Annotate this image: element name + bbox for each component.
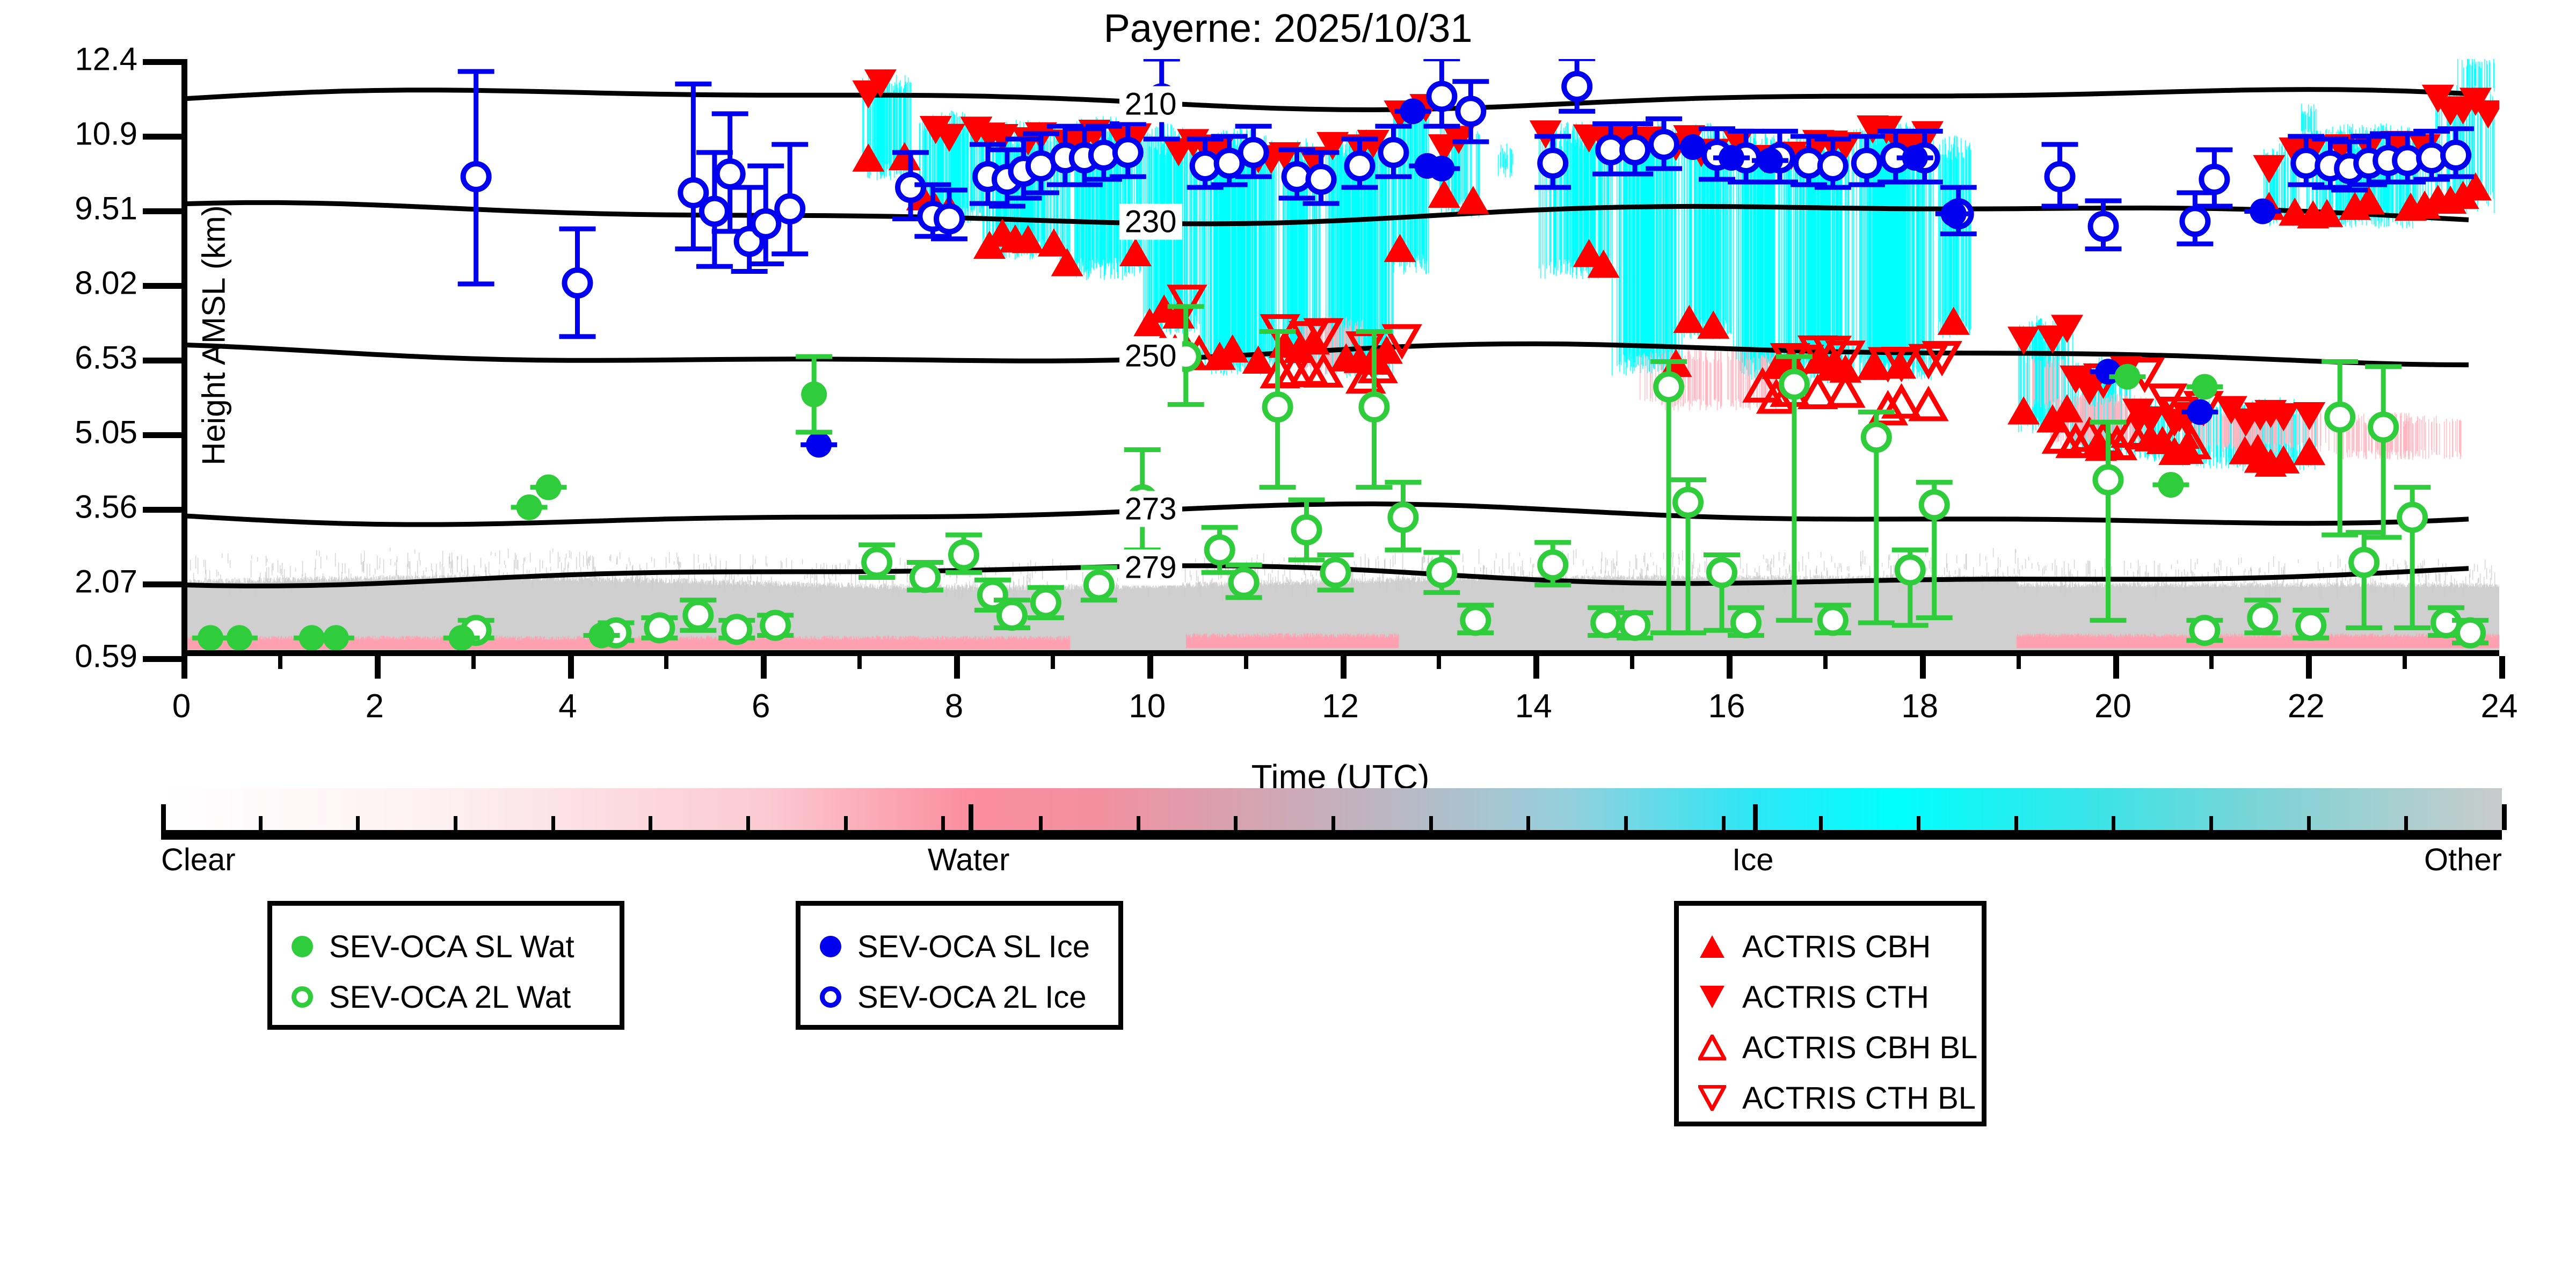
- legend-entry: SEV-OCA SL Wat: [292, 930, 574, 963]
- y-tick-label: 0.59: [75, 638, 137, 675]
- colorbar-tick: [649, 816, 652, 830]
- y-tick: [143, 656, 181, 662]
- x-tick: [2499, 656, 2505, 679]
- y-tick: [143, 432, 181, 438]
- colorbar-tick-major: [1753, 804, 1758, 830]
- colorbar-tick: [2209, 816, 2213, 830]
- colorbar: ClearWaterIceOther: [161, 788, 2502, 830]
- legend-label: SEV-OCA 2L Wat: [329, 979, 571, 1015]
- colorbar-tick: [1331, 816, 1335, 830]
- filled-circle-icon: [820, 936, 841, 957]
- x-tick-minor: [1437, 656, 1441, 669]
- colorbar-tick: [2404, 816, 2408, 830]
- legend-entry: ACTRIS CTH BL: [1698, 1082, 1976, 1114]
- y-tick: [143, 208, 181, 214]
- colorbar-tick: [1429, 816, 1433, 830]
- legend-sev-oca-wat: SEV-OCA SL WatSEV-OCA 2L Wat: [267, 901, 624, 1030]
- axes-frame: [181, 59, 2499, 656]
- filled-circle-icon: [292, 936, 313, 957]
- x-tick-minor: [2017, 656, 2021, 669]
- x-tick: [1727, 656, 1733, 679]
- legend-entry: SEV-OCA 2L Wat: [292, 981, 571, 1013]
- x-tick-minor: [664, 656, 668, 669]
- y-tick: [143, 134, 181, 140]
- legend-label: ACTRIS CTH BL: [1742, 1080, 1976, 1116]
- open-circle-icon: [292, 986, 313, 1008]
- triangle-up-icon: [1698, 934, 1726, 959]
- y-tick-label: 12.4: [75, 41, 137, 78]
- x-tick: [375, 656, 381, 679]
- temperature-contour-label: 250: [1119, 338, 1182, 374]
- colorbar-tick: [2112, 816, 2115, 830]
- legend-label: ACTRIS CTH: [1742, 979, 1929, 1015]
- x-tick-label: 18: [1901, 687, 1938, 725]
- colorbar-tick-label: Ice: [1732, 842, 1773, 878]
- temperature-contour-label: 279: [1119, 550, 1182, 586]
- x-tick: [2306, 656, 2312, 679]
- x-tick-label: 16: [1708, 687, 1745, 725]
- x-tick-label: 10: [1129, 687, 1166, 725]
- y-tick-label: 3.56: [75, 489, 137, 526]
- x-tick: [1920, 656, 1926, 679]
- colorbar-tick-label: Water: [928, 842, 1010, 878]
- y-tick: [143, 59, 181, 65]
- y-tick-label: 10.9: [75, 115, 137, 152]
- colorbar-tick-label: Clear: [161, 842, 236, 878]
- legend-entry: ACTRIS CBH BL: [1698, 1031, 1977, 1064]
- x-tick-label: 6: [752, 687, 770, 725]
- colorbar-tick: [1234, 816, 1238, 830]
- colorbar-tick: [1039, 816, 1043, 830]
- x-tick-label: 12: [1322, 687, 1359, 725]
- legend-entry: SEV-OCA 2L Ice: [820, 981, 1087, 1013]
- colorbar-tick: [2307, 816, 2311, 830]
- x-tick-minor: [2403, 656, 2407, 669]
- legend-label: ACTRIS CBH BL: [1742, 1030, 1977, 1066]
- x-tick-minor: [278, 656, 282, 669]
- colorbar-tick: [2014, 816, 2018, 830]
- y-tick: [143, 283, 181, 289]
- y-tick: [143, 581, 181, 587]
- temperature-contour-label: 230: [1119, 203, 1182, 239]
- page-title: Payerne: 2025/10/31: [0, 5, 2576, 51]
- x-tick: [954, 656, 960, 679]
- x-tick-label: 4: [558, 687, 577, 725]
- x-tick-label: 0: [172, 687, 191, 725]
- legend-entry: SEV-OCA SL Ice: [820, 930, 1090, 963]
- colorbar-tick: [1722, 816, 1726, 830]
- y-axis-label: Height AMSL (km): [195, 174, 232, 497]
- x-tick-label: 20: [2094, 687, 2131, 725]
- x-tick: [1533, 656, 1539, 679]
- chart-page: Payerne: 2025/10/31 12.410.99.518.026.53…: [0, 0, 2576, 1288]
- y-tick-label: 9.51: [75, 190, 137, 227]
- legend-sev-oca-ice: SEV-OCA SL IceSEV-OCA 2L Ice: [796, 901, 1123, 1030]
- colorbar-tick-major: [969, 804, 973, 830]
- legend-label: SEV-OCA SL Wat: [329, 929, 574, 965]
- x-tick-minor: [1244, 656, 1248, 669]
- x-tick: [1147, 656, 1153, 679]
- x-tick-minor: [2209, 656, 2214, 669]
- triangle-down-icon: [1698, 984, 1726, 1010]
- colorbar-tick: [454, 816, 457, 830]
- colorbar-tick-major: [161, 804, 166, 830]
- x-tick-minor: [857, 656, 862, 669]
- x-tick-minor: [471, 656, 476, 669]
- legend-actris: ACTRIS CBHACTRIS CTHACTRIS CBH BLACTRIS …: [1674, 901, 1986, 1126]
- y-tick-label: 2.07: [75, 563, 137, 600]
- x-tick-minor: [1823, 656, 1828, 669]
- x-tick-label: 8: [945, 687, 963, 725]
- x-tick-label: 22: [2288, 687, 2325, 725]
- y-tick: [143, 507, 181, 513]
- colorbar-tick: [259, 816, 263, 830]
- y-tick-label: 8.02: [75, 265, 137, 302]
- legend-label: ACTRIS CBH: [1742, 929, 1931, 965]
- open-circle-icon: [820, 986, 841, 1008]
- x-tick: [761, 656, 767, 679]
- main-axes: 12.410.99.518.026.535.053.562.070.59 024…: [181, 59, 2499, 656]
- colorbar-tick: [1624, 816, 1628, 830]
- colorbar-tick: [1137, 816, 1140, 830]
- x-tick: [181, 656, 187, 679]
- colorbar-tick: [844, 816, 848, 830]
- triangle-up-icon: [1698, 1035, 1726, 1060]
- colorbar-tick: [1819, 816, 1823, 830]
- temperature-contour-label: 210: [1119, 86, 1182, 122]
- x-tick-label: 14: [1515, 687, 1552, 725]
- x-tick-minor: [1051, 656, 1055, 669]
- y-tick-label: 6.53: [75, 339, 137, 376]
- temperature-contour-label: 273: [1119, 491, 1182, 527]
- legend-label: SEV-OCA 2L Ice: [857, 979, 1087, 1015]
- colorbar-tick: [356, 816, 360, 830]
- colorbar-tick: [551, 816, 555, 830]
- x-tick: [2113, 656, 2119, 679]
- x-tick: [1341, 656, 1347, 679]
- colorbar-tick-major: [2502, 804, 2507, 830]
- legend-entry: ACTRIS CBH: [1698, 930, 1931, 963]
- x-tick-minor: [1630, 656, 1634, 669]
- x-tick-label: 2: [366, 687, 384, 725]
- y-tick-label: 5.05: [75, 414, 137, 451]
- legend-entry: ACTRIS CTH: [1698, 981, 1929, 1013]
- colorbar-tick: [1526, 816, 1530, 830]
- colorbar-baseline: [161, 830, 2502, 840]
- x-tick-label: 24: [2481, 687, 2518, 725]
- colorbar-tick: [1917, 816, 1920, 830]
- colorbar-tick-label: Other: [2424, 842, 2502, 878]
- legend-label: SEV-OCA SL Ice: [857, 929, 1090, 965]
- y-tick: [143, 358, 181, 363]
- colorbar-tick: [746, 816, 750, 830]
- triangle-down-icon: [1698, 1085, 1726, 1111]
- x-tick: [568, 656, 574, 679]
- colorbar-tick: [941, 816, 945, 830]
